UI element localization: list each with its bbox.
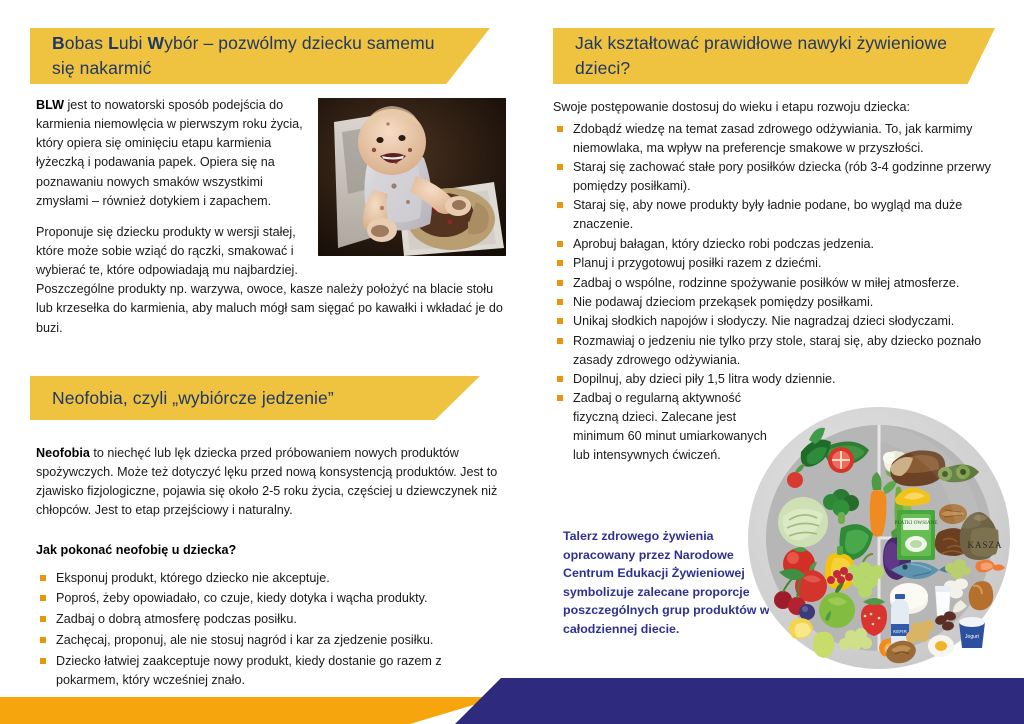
list-item: Staraj się zachować stałe pory posiłków …	[553, 158, 1005, 196]
list-item: Unikaj słodkich napojów i słodyczy. Nie …	[553, 312, 1005, 331]
paragraph-blw-lead: BLW	[36, 98, 64, 112]
left-column: BLW jest to nowatorski sposób podejścia …	[36, 96, 506, 338]
left-column-lower: Neofobia to niechęć lub lęk dziecka prze…	[36, 444, 506, 692]
list-neofobia-tips: Eksponuj produkt, którego dziecko nie ak…	[36, 569, 506, 690]
paragraph-neofobia-lead: Neofobia	[36, 446, 90, 460]
plate-label-oats: PŁATKI OWSIANE	[894, 520, 937, 526]
list-item: Staraj się, aby nowe produkty były ładni…	[553, 196, 1005, 234]
plate-label-yogurt: Jogurt	[965, 634, 980, 640]
photo-baby	[318, 98, 506, 256]
list-item: Zachęcaj, proponuj, ale nie stosuj nagró…	[36, 631, 506, 650]
paragraph-neofobia-rest: to niechęć lub lęk dziecka przed próbowa…	[36, 446, 497, 517]
intro-line: Swoje postępowanie dostosuj do wieku i e…	[553, 98, 1005, 117]
paragraph-blw-rest: jest to nowatorski sposób podejścia do k…	[36, 98, 303, 208]
list-item: Dopilnuj, aby dzieci piły 1,5 litra wody…	[553, 370, 1005, 389]
list-item: Dziecko łatwiej zaakceptuje nowy produkt…	[36, 652, 506, 690]
banner-neofobia: Neofobia, czyli „wybiórcze jedzenie”	[30, 376, 480, 420]
list-item: Zadbaj o dobrą atmosferę podczas posiłku…	[36, 610, 506, 629]
poster-page: Bobas Lubi Wybór – pozwólmy dziecku same…	[0, 0, 1024, 724]
banner-blw-title: Bobas Lubi Wybór – pozwólmy dziecku same…	[30, 31, 490, 81]
list-item: Zdobądź wiedzę na temat zasad zdrowego o…	[553, 120, 1005, 158]
list-item: Zadbaj o wspólne, rodzinne spożywanie po…	[553, 274, 1005, 293]
banner-nawyki: Jak kształtować prawidłowe nawyki żywien…	[553, 28, 995, 84]
banner-nawyki-title: Jak kształtować prawidłowe nawyki żywien…	[553, 31, 995, 81]
list-item: Planuj i przygotowuj posiłki razem z dzi…	[553, 254, 1005, 273]
subheading-question: Jak pokonać neofobię u dziecka?	[36, 543, 506, 557]
footer-band-navy	[455, 678, 1024, 724]
list-item: Eksponuj produkt, którego dziecko nie ak…	[36, 569, 506, 588]
list-item: Nie podawaj dzieciom przekąsek pomiędzy …	[553, 293, 1005, 312]
healthy-eating-plate-illustration: PŁATKI OWSIANE KASZA	[745, 404, 1013, 672]
list-item: Rozmawiaj o jedzeniu nie tylko przy stol…	[553, 332, 1005, 370]
banner-blw: Bobas Lubi Wybór – pozwólmy dziecku same…	[30, 28, 490, 84]
paragraph-neofobia: Neofobia to niechęć lub lęk dziecka prze…	[36, 444, 506, 521]
footer-band-orange	[0, 697, 500, 724]
plate-label-kasza: KASZA	[967, 540, 1002, 550]
list-item: Poproś, żeby opowiadało, co czuje, kiedy…	[36, 589, 506, 608]
list-item: Aprobuj bałagan, który dziecko robi podc…	[553, 235, 1005, 254]
banner-neofobia-title: Neofobia, czyli „wybiórcze jedzenie”	[30, 386, 374, 411]
plate-label-kefir: KEFIR	[893, 629, 907, 634]
